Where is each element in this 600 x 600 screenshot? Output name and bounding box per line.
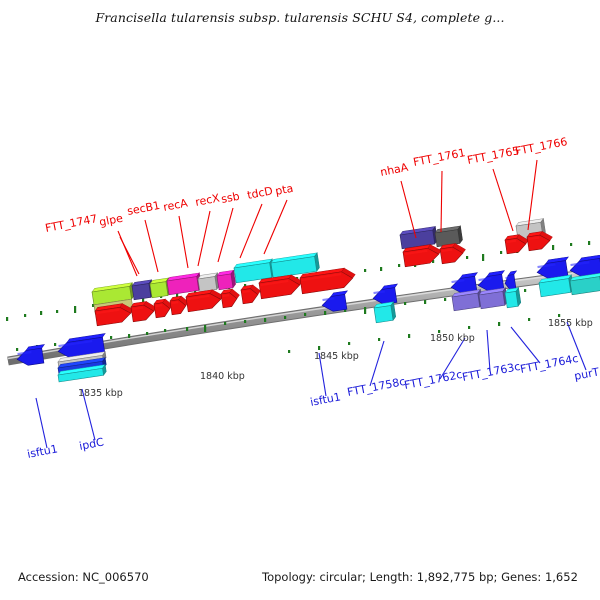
feature-tick	[466, 256, 468, 259]
feature-tick	[364, 307, 366, 314]
genome-map-canvas[interactable]: FTT_1747glpesecB1recArecXssbtdcDptanhaAF…	[0, 0, 600, 600]
feature-tick	[570, 243, 572, 246]
gene-reverse-label[interactable]: ipdC	[78, 435, 105, 453]
gene-forward-leader-line	[493, 169, 513, 231]
scale-label-layer: 1835 kbp1840 kbp1845 kbp1850 kbp1855 kbp	[78, 318, 593, 399]
gene-forward-label[interactable]: glpe	[98, 212, 124, 229]
feature-tick	[404, 302, 406, 305]
box-lav2[interactable]	[479, 288, 508, 309]
feature-tick	[524, 289, 526, 292]
box-cyan-r-front	[505, 291, 518, 307]
feature-tick	[468, 326, 470, 329]
gene-forward-leader-line	[198, 211, 210, 266]
gene-forward-label[interactable]: tdcD	[246, 184, 274, 202]
feature-tick	[424, 300, 426, 304]
feature-tick	[498, 322, 500, 326]
feature-tick	[244, 320, 246, 323]
arrow-r2[interactable]	[131, 300, 159, 322]
arrow-r11[interactable]	[440, 242, 468, 264]
feature-tick	[6, 317, 8, 321]
gene-dgrey-r[interactable]	[435, 226, 463, 247]
feature-tick	[324, 311, 326, 315]
feature-tick	[146, 332, 148, 335]
feature-tick	[318, 346, 320, 350]
gene-reverse-leader-line	[36, 398, 47, 448]
gene-forward-leader-line	[218, 208, 233, 262]
genome-map-viewer[interactable]: Francisella tularensis subsp. tularensis…	[0, 0, 600, 600]
arrow-r13[interactable]	[527, 230, 554, 251]
gene-forward-label[interactable]: FTT_1761	[412, 146, 466, 169]
gene-forward-label[interactable]: pta	[274, 182, 294, 198]
gene-forward-leader-line	[401, 181, 416, 238]
scale-label: 1850 kbp	[430, 333, 475, 344]
feature-tick	[110, 336, 112, 339]
arrow-r5[interactable]	[186, 288, 225, 312]
feature-tick	[56, 310, 58, 313]
gene-magenta2[interactable]	[217, 270, 237, 290]
feature-tick	[288, 350, 290, 353]
gene-forward-label[interactable]: secB1	[126, 199, 161, 218]
gene-forward-label[interactable]: FTT_1747	[44, 212, 98, 235]
accession-label: Accession: NC_006570	[18, 570, 149, 584]
gene-forward-leader-line	[145, 220, 158, 272]
gene-reverse-label[interactable]: isftu1	[309, 390, 342, 409]
feature-tick	[264, 318, 266, 322]
feature-tick	[444, 298, 446, 301]
gene-forward-leader-line	[528, 160, 537, 230]
feature-tick	[224, 322, 226, 325]
box-cyan-m[interactable]	[374, 302, 397, 323]
scale-label: 1845 kbp	[314, 351, 359, 362]
gene-reverse-label[interactable]: FTT_1758c	[346, 375, 406, 399]
scale-label: 1855 kbp	[548, 318, 593, 329]
feature-tick	[128, 334, 130, 338]
feature-tick	[378, 338, 380, 341]
gene-reverse-label[interactable]: FTT_1762c	[403, 368, 463, 392]
box-cyan-m-front	[374, 305, 393, 322]
feature-tick	[500, 251, 502, 254]
gene-forward-label[interactable]: recA	[162, 196, 189, 214]
gene-forward-label[interactable]: recX	[194, 191, 221, 209]
arrow-b1-front	[16, 348, 44, 367]
feature-tick	[186, 327, 188, 331]
feature-tick	[164, 329, 166, 332]
gene-forward-label[interactable]: FTT_1765	[466, 144, 520, 167]
feature-tick	[304, 313, 306, 316]
gene-forward-label[interactable]: nhaA	[379, 161, 410, 179]
status-bar: Accession: NC_006570 Topology: circular;…	[0, 570, 600, 592]
scale-label: 1840 kbp	[200, 371, 245, 382]
feature-tick	[408, 334, 410, 338]
gene-forward-leader-line	[240, 204, 262, 258]
gene-label-layer-reverse[interactable]: isftu1ipdCisftu1FTT_1758cFTT_1762cFTT_17…	[26, 352, 600, 461]
feature-tick	[40, 311, 42, 315]
gene-forward-leader-line	[118, 231, 137, 276]
feature-tick	[74, 306, 76, 313]
feature-tick	[482, 254, 484, 261]
feature-tick	[558, 314, 560, 317]
gene-slate-front	[132, 283, 151, 299]
gene-forward-label[interactable]: FTT_1766	[514, 135, 568, 158]
gene-magenta1[interactable]	[167, 273, 202, 295]
gene-reverse-leader-line	[511, 327, 540, 363]
feature-tick	[528, 318, 530, 321]
gene-magenta2-front	[217, 274, 233, 290]
feature-tick	[552, 245, 554, 250]
gene-reverse-label[interactable]: FTT_1763c	[461, 360, 521, 384]
feature-tick	[54, 343, 56, 346]
gene-reverse-label[interactable]: isftu1	[26, 442, 59, 461]
topology-label: Topology: circular; Length: 1,892,775 bp…	[262, 570, 578, 584]
gene-reverse-label[interactable]: FTT_1764c	[519, 352, 579, 376]
gene-forward-leader-line	[441, 171, 442, 232]
box-cyan-r[interactable]	[505, 288, 522, 308]
gene-label-layer-forward[interactable]: FTT_1747glpesecB1recArecXssbtdcDptanhaAF…	[44, 135, 568, 235]
gene-grey1-front	[198, 276, 217, 291]
feature-tick	[364, 269, 366, 272]
arrow-r7[interactable]	[241, 284, 263, 304]
feature-tick	[24, 314, 26, 317]
feature-tick	[348, 342, 350, 345]
arrow-r6[interactable]	[221, 288, 242, 308]
gene-grey1[interactable]	[198, 273, 220, 292]
gene-ygreen-front	[150, 282, 168, 298]
gene-forward-leader-line	[264, 200, 287, 254]
gene-forward-label[interactable]: ssb	[220, 190, 241, 206]
feature-tick	[398, 264, 400, 267]
gene-reverse-label[interactable]: purT	[573, 365, 600, 383]
feature-tick	[16, 348, 18, 351]
feature-tick	[588, 241, 590, 245]
gene-forward-leader-line	[179, 216, 188, 268]
scale-label: 1835 kbp	[78, 388, 123, 399]
feature-tick	[284, 316, 286, 319]
feature-tick	[380, 267, 382, 271]
feature-tick	[204, 325, 206, 332]
